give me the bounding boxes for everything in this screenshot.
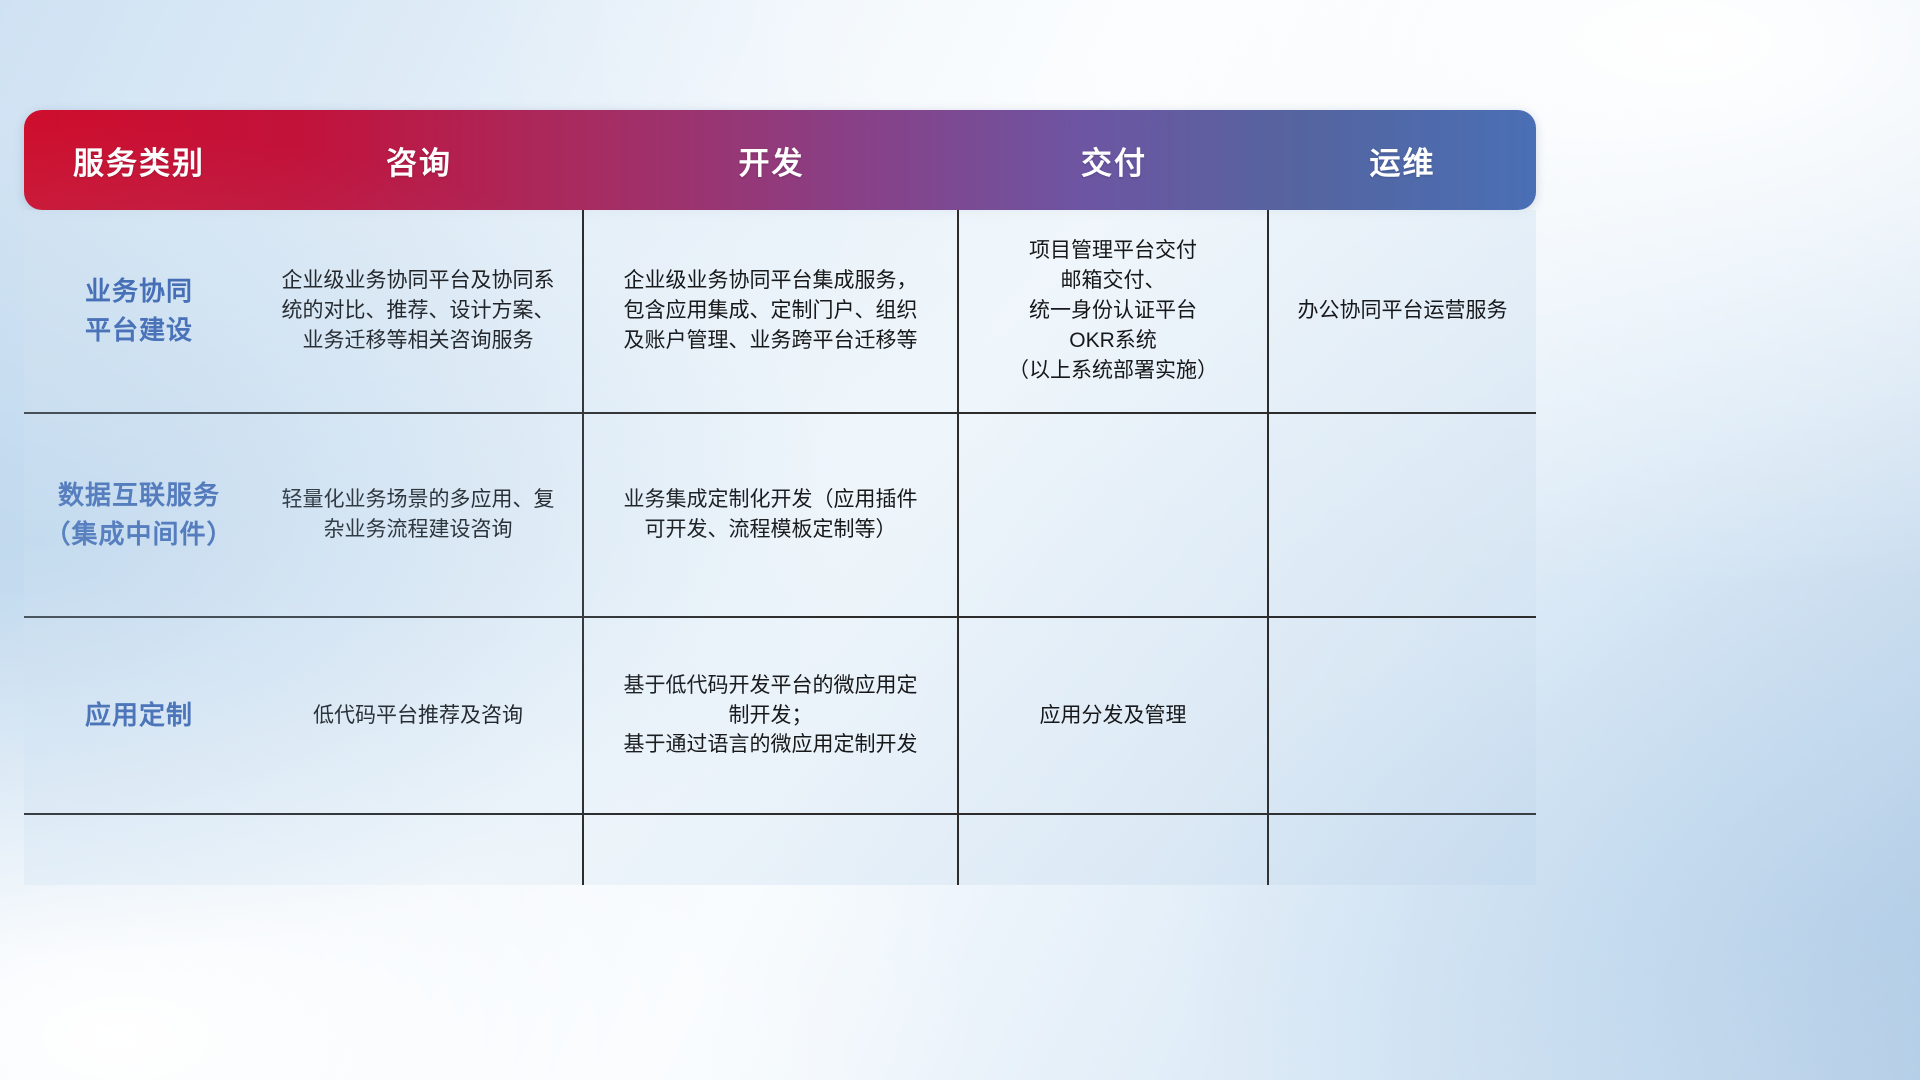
cell-development: 企业级业务协同平台集成服务， 包含应用集成、定制门户、组织 及账户管理、业务跨平… <box>584 210 959 412</box>
cell-operations: 办公协同平台运营服务 <box>1269 210 1536 412</box>
row-category-cell: 业务协同 平台建设 <box>24 210 254 412</box>
row-category-cell: 数据互联服务 （集成中间件） <box>24 414 254 616</box>
cell-delivery: 项目管理平台交付 邮箱交付、 统一身份认证平台 OKR系统 （以上系统部署实施） <box>959 210 1269 412</box>
cell-text: 企业级业务协同平台集成服务， 包含应用集成、定制门户、组织 及账户管理、业务跨平… <box>624 266 918 355</box>
table-row: 应用定制 低代码平台推荐及咨询 基于低代码开发平台的微应用定 制开发； 基于通过… <box>24 618 1536 815</box>
column-header-label: 服务类别 <box>73 138 205 183</box>
spacer-cell <box>584 815 959 885</box>
cell-text: 轻量化业务场景的多应用、复 杂业务流程建设咨询 <box>282 485 555 545</box>
column-header-consulting: 咨询 <box>254 110 584 210</box>
column-header-service-category: 服务类别 <box>24 110 254 210</box>
column-header-development: 开发 <box>584 110 959 210</box>
column-header-delivery: 交付 <box>959 110 1269 210</box>
cell-operations <box>1269 414 1536 616</box>
row-category-label: 业务协同 平台建设 <box>85 272 193 350</box>
cell-delivery: 应用分发及管理 <box>959 618 1269 813</box>
column-header-label: 开发 <box>739 138 805 183</box>
cell-development: 业务集成定制化开发（应用插件 可开发、流程模板定制等） <box>584 414 959 616</box>
spacer-cell <box>254 815 584 885</box>
spacer-cell <box>1269 815 1536 885</box>
table-row: 业务协同 平台建设 企业级业务协同平台及协同系 统的对比、推荐、设计方案、 业务… <box>24 210 1536 414</box>
cell-text: 办公协同平台运营服务 <box>1298 296 1508 326</box>
column-header-operations: 运维 <box>1269 110 1536 210</box>
row-category-label: 数据互联服务 （集成中间件） <box>44 476 233 554</box>
table-body: 业务协同 平台建设 企业级业务协同平台及协同系 统的对比、推荐、设计方案、 业务… <box>24 210 1536 885</box>
slide-canvas: 服务类别 咨询 开发 交付 运维 业务协同 平台建设 <box>0 0 1920 1080</box>
service-matrix-table: 服务类别 咨询 开发 交付 运维 业务协同 平台建设 <box>24 110 1536 885</box>
cell-text: 低代码平台推荐及咨询 <box>313 701 523 731</box>
spacer-cell <box>959 815 1269 885</box>
spacer-cell <box>24 815 254 885</box>
cell-delivery <box>959 414 1269 616</box>
cell-text: 基于低代码开发平台的微应用定 制开发； 基于通过语言的微应用定制开发 <box>624 671 918 760</box>
cell-text: 项目管理平台交付 邮箱交付、 统一身份认证平台 OKR系统 （以上系统部署实施） <box>1008 236 1218 385</box>
cell-consulting: 低代码平台推荐及咨询 <box>254 618 584 813</box>
row-category-label: 应用定制 <box>85 696 193 735</box>
column-header-label: 咨询 <box>386 138 452 183</box>
cell-consulting: 轻量化业务场景的多应用、复 杂业务流程建设咨询 <box>254 414 584 616</box>
cell-text: 业务集成定制化开发（应用插件 可开发、流程模板定制等） <box>624 485 918 545</box>
cell-consulting: 企业级业务协同平台及协同系 统的对比、推荐、设计方案、 业务迁移等相关咨询服务 <box>254 210 584 412</box>
cell-text: 企业级业务协同平台及协同系 统的对比、推荐、设计方案、 业务迁移等相关咨询服务 <box>282 266 555 355</box>
column-header-label: 运维 <box>1370 138 1436 183</box>
cell-text: 应用分发及管理 <box>1040 701 1187 731</box>
table-bottom-spacer <box>24 815 1536 885</box>
cell-development: 基于低代码开发平台的微应用定 制开发； 基于通过语言的微应用定制开发 <box>584 618 959 813</box>
row-category-cell: 应用定制 <box>24 618 254 813</box>
table-header-row: 服务类别 咨询 开发 交付 运维 <box>24 110 1536 210</box>
column-header-label: 交付 <box>1081 138 1147 183</box>
cell-operations <box>1269 618 1536 813</box>
table-row: 数据互联服务 （集成中间件） 轻量化业务场景的多应用、复 杂业务流程建设咨询 业… <box>24 414 1536 618</box>
